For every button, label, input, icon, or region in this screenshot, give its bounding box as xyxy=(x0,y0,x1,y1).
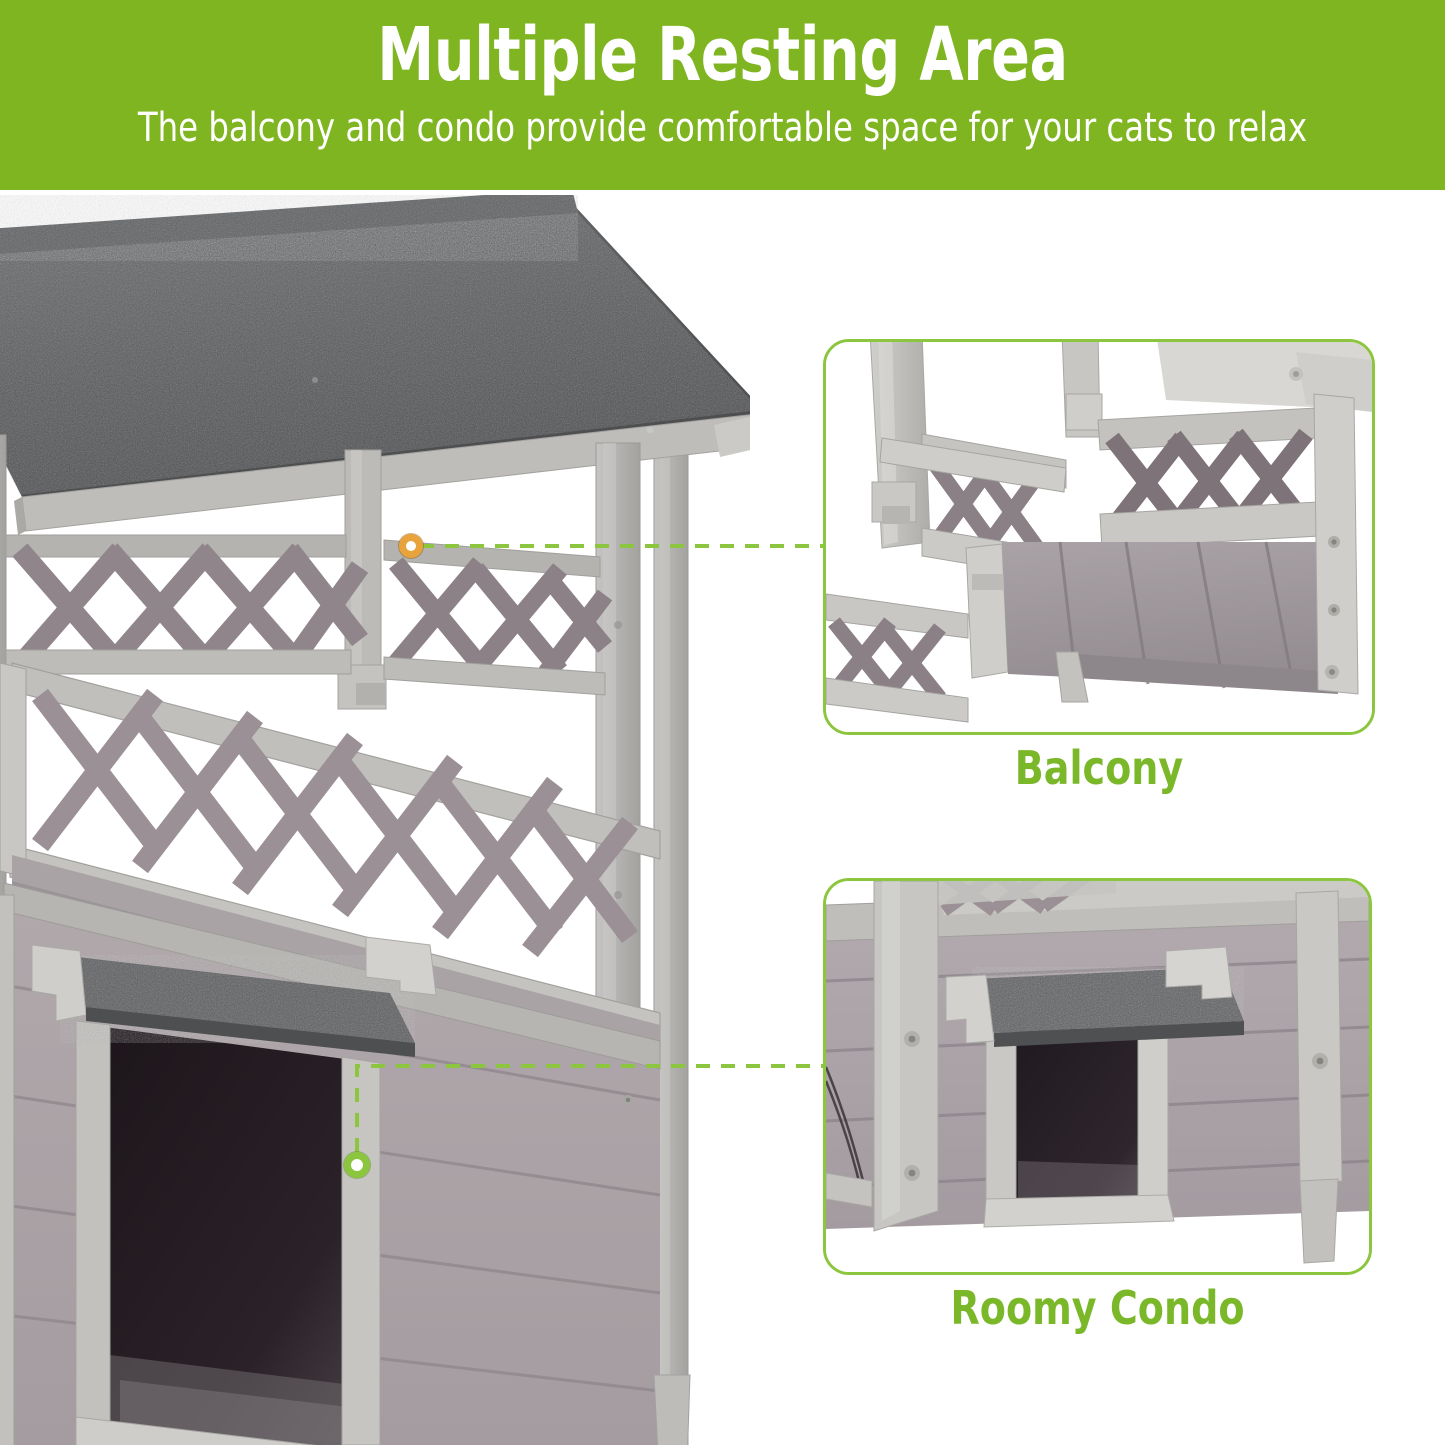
hotspot-marker-condo[interactable] xyxy=(344,1152,370,1178)
callout-panel-balcony xyxy=(823,339,1375,735)
banner-title: Multiple Resting Area xyxy=(101,14,1344,96)
callout-panel-condo xyxy=(823,878,1372,1275)
callout-label-condo: Roomy Condo xyxy=(845,1282,1350,1334)
header-banner: Multiple Resting Area The balcony and co… xyxy=(0,0,1445,190)
callout-label-balcony: Balcony xyxy=(845,742,1353,794)
hotspot-marker-balcony[interactable] xyxy=(399,534,423,558)
product-main-photo xyxy=(0,195,750,1445)
infographic-canvas: Multiple Resting Area The balcony and co… xyxy=(0,0,1445,1445)
banner-subtitle: The balcony and condo provide comfortabl… xyxy=(72,103,1373,153)
